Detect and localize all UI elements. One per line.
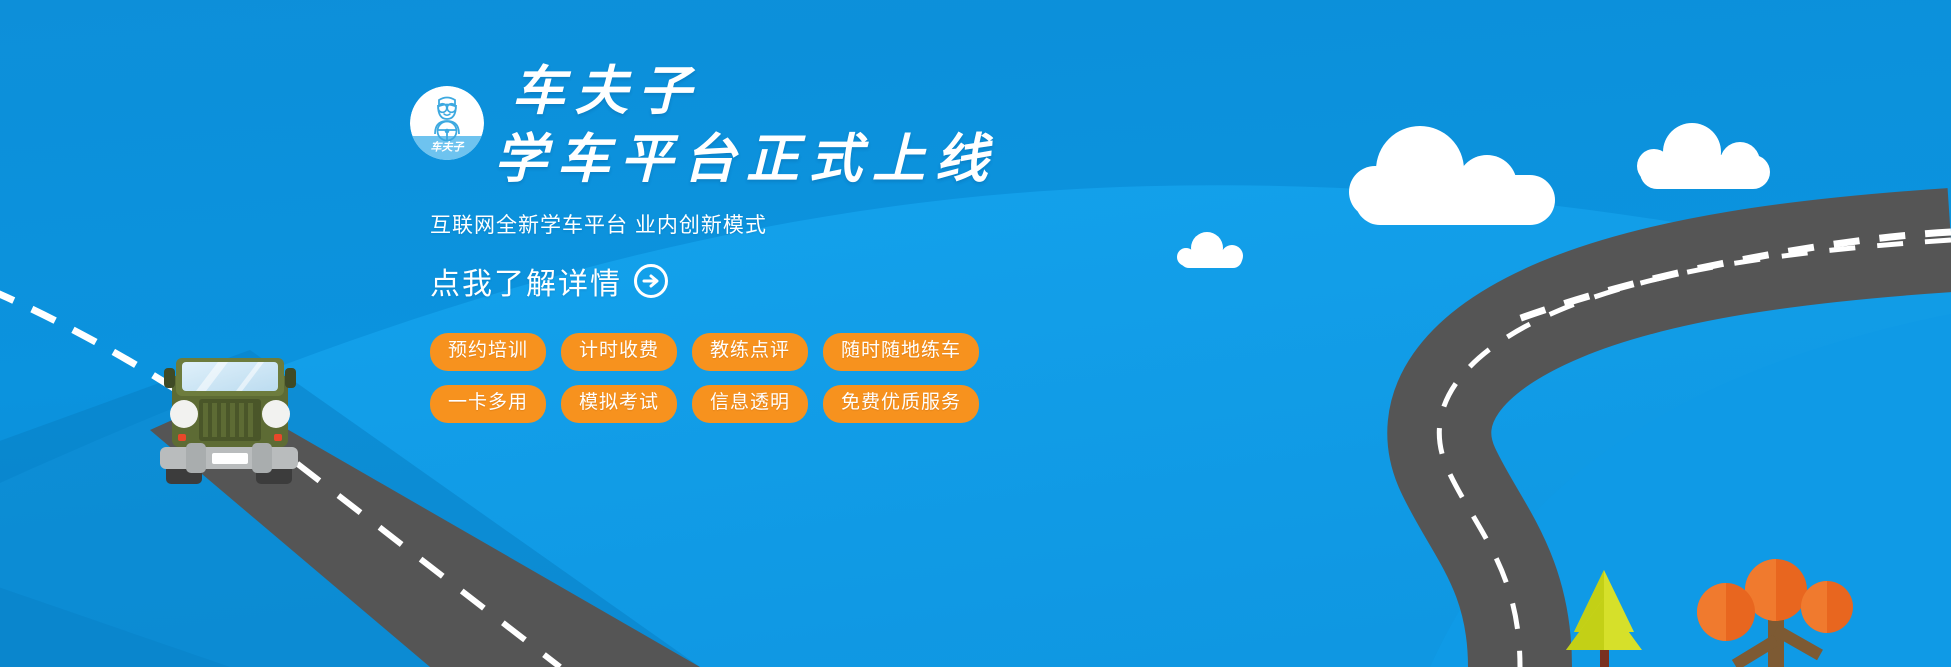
- promo-banner: 车夫子 车夫子 学车平台正式上线 互联网全新学车平台 业内创新模式 点我了解详情…: [0, 0, 1951, 667]
- feature-tag[interactable]: 一卡多用: [430, 385, 546, 423]
- headline-line-1: 车夫子: [512, 66, 998, 119]
- feature-tag[interactable]: 教练点评: [692, 333, 808, 371]
- feature-tag-row-1: 预约培训 计时收费 教练点评 随时随地练车: [430, 333, 950, 371]
- banner-content: 车夫子 车夫子 学车平台正式上线 互联网全新学车平台 业内创新模式 点我了解详情…: [410, 60, 1130, 437]
- feature-tag[interactable]: 随时随地练车: [823, 333, 979, 371]
- feature-tag[interactable]: 信息透明: [692, 385, 808, 423]
- feature-tag[interactable]: 模拟考试: [561, 385, 677, 423]
- learn-more-cta-label: 点我了解详情: [430, 259, 622, 303]
- feature-tag-row-2: 一卡多用 模拟考试 信息透明 免费优质服务: [430, 385, 950, 423]
- brand-logo-text: 车夫子: [431, 141, 465, 154]
- feature-tag[interactable]: 计时收费: [561, 333, 677, 371]
- green-jeep-icon: [160, 358, 298, 484]
- banner-subtitle: 互联网全新学车平台 业内创新模式: [430, 209, 1130, 239]
- logo-and-title-row: 车夫子 车夫子 学车平台正式上线: [410, 60, 1130, 187]
- feature-tag-list: 预约培训 计时收费 教练点评 随时随地练车 一卡多用 模拟考试 信息透明 免费优…: [430, 333, 950, 423]
- learn-more-cta[interactable]: 点我了解详情: [430, 259, 668, 303]
- headline-block: 车夫子 学车平台正式上线: [508, 60, 998, 187]
- driver-avatar-steering-wheel-icon: 车夫子: [410, 86, 484, 160]
- feature-tag[interactable]: 免费优质服务: [823, 385, 979, 423]
- feature-tag[interactable]: 预约培训: [430, 333, 546, 371]
- brand-logo[interactable]: 车夫子: [410, 86, 484, 160]
- headline-line-2: 学车平台正式上线: [494, 134, 998, 187]
- arrow-right-circle-icon: [634, 264, 668, 298]
